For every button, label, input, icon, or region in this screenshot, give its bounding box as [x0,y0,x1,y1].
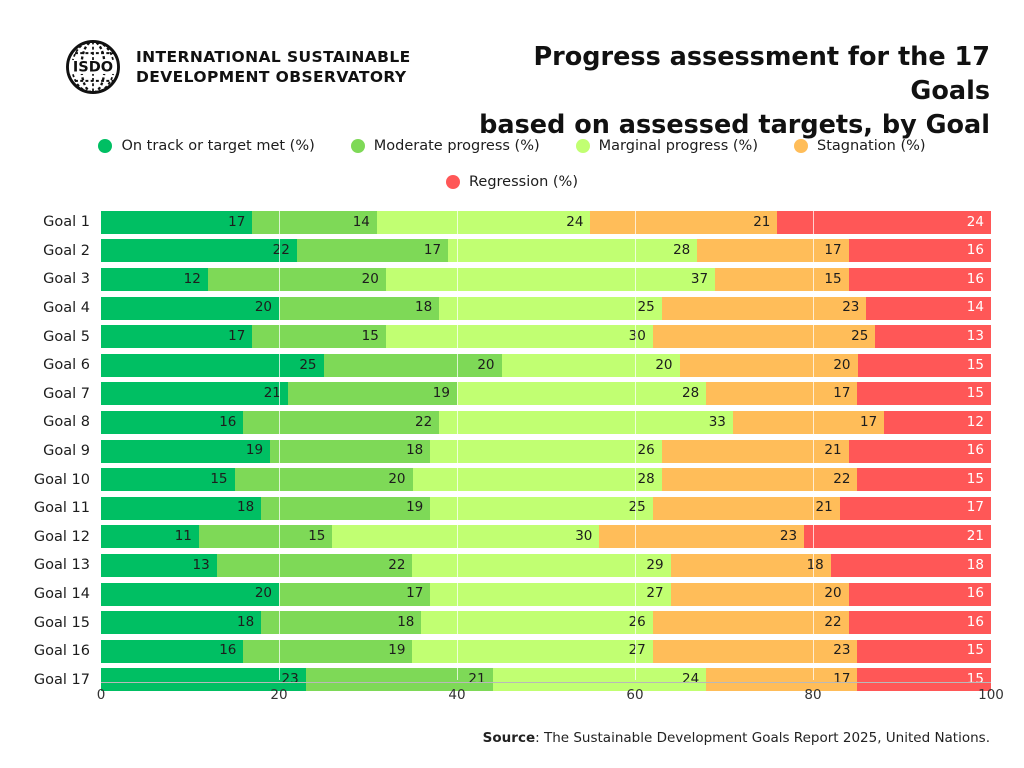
legend-item-label: Stagnation (%) [817,138,926,154]
bar-segment-value: 26 [637,444,661,458]
bar-segment[interactable]: 17 [297,239,448,262]
stacked-bar: 1520282215 [101,468,991,491]
bar-segment-value: 37 [691,273,715,287]
chart-plot-area: Goal 11714242124Goal 22217281716Goal 312… [0,208,1024,688]
stacked-bar: 1220371516 [101,268,991,291]
bar-segment[interactable]: 15 [857,382,991,405]
legend-item[interactable]: Regression (%) [446,174,578,190]
bar-segment[interactable]: 11 [101,525,199,548]
bar-segment-value: 17 [860,416,884,430]
bar-segment[interactable]: 28 [448,239,697,262]
bar-segment[interactable]: 23 [662,297,867,320]
bar-segment[interactable]: 20 [324,354,502,377]
bar-segment[interactable]: 16 [849,440,991,463]
legend-swatch-icon [576,139,590,153]
bar-segment[interactable]: 22 [217,554,413,577]
legend-swatch-icon [351,139,365,153]
bar-segment-value: 20 [388,473,412,487]
bar-row-label: Goal 8 [0,414,101,430]
bar-segment-value: 33 [709,416,733,430]
x-axis-tick-label: 60 [626,687,643,703]
bar-segment[interactable]: 29 [412,554,670,577]
bar-segment-value: 23 [833,644,857,658]
logo-text: ISDO [73,60,113,76]
bar-row: Goal 51715302513 [0,322,1024,351]
bar-segment[interactable]: 20 [101,297,279,320]
bar-segment-value: 30 [629,330,653,344]
bar-segment-value: 11 [175,530,199,544]
bar-segment-value: 25 [299,359,323,373]
bar-segment[interactable]: 12 [101,268,208,291]
bar-segment[interactable]: 14 [252,211,377,234]
stacked-bar: 2217281716 [101,239,991,262]
bar-segment-value: 17 [228,330,252,344]
bar-segment-value: 24 [967,216,991,230]
stacked-bar: 2017272016 [101,583,991,606]
bar-segment-value: 17 [824,244,848,258]
bar-segment-value: 23 [842,301,866,315]
legend-swatch-icon [794,139,808,153]
x-axis-tick-label: 100 [978,687,1004,703]
bar-segment-value: 16 [967,616,991,630]
stacked-bar: 1918262116 [101,440,991,463]
x-axis-tick-label: 80 [804,687,821,703]
bar-segment[interactable]: 19 [243,640,412,663]
bar-segment-value: 13 [967,330,991,344]
legend-item-label: On track or target met (%) [121,138,314,154]
bar-segment[interactable]: 20 [502,354,680,377]
bar-segment-value: 28 [638,473,662,487]
stacked-bar: 1714242124 [101,211,991,234]
bar-segment[interactable]: 15 [101,468,235,491]
bar-segment-value: 12 [967,416,991,430]
bar-segment[interactable]: 17 [733,411,884,434]
bar-row-label: Goal 10 [0,472,101,488]
legend-item[interactable]: On track or target met (%) [98,138,314,154]
bar-segment[interactable]: 25 [439,297,662,320]
source-text: : The Sustainable Development Goals Repo… [535,730,990,746]
bar-segment[interactable]: 20 [208,268,386,291]
bar-row: Goal 161619272315 [0,637,1024,666]
stacked-bar: 2119281715 [101,382,991,405]
bar-segment-value: 20 [824,587,848,601]
bar-segment-value: 21 [815,501,839,515]
bar-segment[interactable]: 25 [653,325,876,348]
bar-segment-value: 20 [362,273,386,287]
bar-segment[interactable]: 23 [653,640,858,663]
bar-row: Goal 11714242124 [0,208,1024,237]
bar-segment[interactable]: 25 [101,354,324,377]
bar-segment-value: 19 [433,387,457,401]
bar-segment[interactable]: 28 [457,382,706,405]
bar-segment-value: 21 [753,216,777,230]
bar-segment-value: 20 [255,587,279,601]
bar-row-label: Goal 7 [0,386,101,402]
page-header: ISDO INTERNATIONAL SUSTAINABLE DEVELOPME… [0,0,1024,120]
bar-segment[interactable]: 20 [101,583,279,606]
bar-segment[interactable]: 14 [866,297,991,320]
bar-segment-value: 15 [308,530,332,544]
bar-segment[interactable]: 21 [590,211,777,234]
legend-item[interactable]: Marginal progress (%) [576,138,758,154]
bar-segment[interactable]: 17 [840,497,991,520]
bar-segment-value: 18 [237,501,261,515]
bar-segment[interactable]: 18 [101,611,261,634]
stacked-bar: 1115302321 [101,525,991,548]
bar-segment-value: 16 [967,587,991,601]
bar-segment[interactable]: 19 [288,382,457,405]
stacked-bar: 1619272315 [101,640,991,663]
bar-segment[interactable]: 16 [849,268,991,291]
bar-segment-value: 15 [967,387,991,401]
bar-segment-value: 16 [967,273,991,287]
bar-segment[interactable]: 13 [875,325,991,348]
bar-segment-value: 15 [967,359,991,373]
bar-row: Goal 31220371516 [0,265,1024,294]
bar-segment[interactable]: 30 [386,325,653,348]
brand-line-1: INTERNATIONAL SUSTAINABLE [136,48,411,66]
bar-row-label: Goal 6 [0,357,101,373]
legend-item-label: Marginal progress (%) [599,138,758,154]
bar-row: Goal 72119281715 [0,380,1024,409]
bar-segment-value: 20 [255,301,279,315]
bar-segment[interactable]: 19 [261,497,430,520]
bar-row-label: Goal 12 [0,529,101,545]
bar-segment-value: 13 [193,559,217,573]
bar-segment-value: 24 [566,216,590,230]
bar-row-label: Goal 3 [0,271,101,287]
bar-segment-value: 21 [824,444,848,458]
globe-isdo-logo-icon: ISDO [64,38,122,96]
bar-row-label: Goal 14 [0,586,101,602]
bar-segment[interactable]: 18 [270,440,430,463]
bar-row-label: Goal 13 [0,557,101,573]
bar-row-label: Goal 15 [0,615,101,631]
bar-segment[interactable]: 21 [804,525,991,548]
bar-segment-value: 23 [780,530,804,544]
bar-segment[interactable]: 20 [680,354,858,377]
chart-legend: On track or target met (%)Moderate progr… [0,134,1024,194]
bar-row: Goal 142017272016 [0,580,1024,609]
bar-segment-value: 18 [807,559,831,573]
x-axis-line [101,682,991,683]
bar-segment[interactable]: 37 [386,268,715,291]
bar-segment[interactable]: 17 [706,382,857,405]
bar-row: Goal 151818262216 [0,608,1024,637]
bar-segment[interactable]: 25 [430,497,653,520]
bar-segment[interactable]: 18 [279,297,439,320]
bar-segment-value: 20 [655,359,679,373]
bar-segment-value: 25 [629,501,653,515]
bar-row: Goal 101520282215 [0,465,1024,494]
bar-segment[interactable]: 27 [412,640,652,663]
bar-segment-value: 21 [264,387,288,401]
bar-segment-value: 19 [406,501,430,515]
bar-segment-value: 29 [646,559,670,573]
bar-segment[interactable]: 30 [332,525,599,548]
bar-segment-value: 16 [967,444,991,458]
title-line-1: Progress assessment for the 17 Goals [533,42,990,106]
bar-segment-value: 15 [824,273,848,287]
bar-segment[interactable]: 23 [599,525,804,548]
x-axis: 020406080100 [101,682,991,712]
bar-segment-value: 27 [629,644,653,658]
stacked-bar: 1819252117 [101,497,991,520]
bar-segment-value: 14 [353,216,377,230]
bar-row: Goal 42018252314 [0,294,1024,323]
bar-row-label: Goal 1 [0,214,101,230]
bar-segment-value: 18 [406,444,430,458]
bar-segment[interactable]: 16 [849,611,991,634]
bar-segment-value: 28 [682,387,706,401]
bar-segment-value: 17 [406,587,430,601]
bar-segment[interactable]: 22 [662,468,858,491]
brand-name: INTERNATIONAL SUSTAINABLE DEVELOPMENT OB… [136,47,411,88]
bar-segment-value: 16 [219,644,243,658]
bar-segment-value: 22 [833,473,857,487]
bar-segment-value: 28 [673,244,697,258]
bar-segment[interactable]: 24 [777,211,991,234]
bar-row: Goal 81622331712 [0,408,1024,437]
bar-segment[interactable]: 17 [697,239,848,262]
bar-segment-value: 17 [228,216,252,230]
bar-segment-value: 18 [397,616,421,630]
bar-segment-value: 25 [638,301,662,315]
brand-logo-block: ISDO INTERNATIONAL SUSTAINABLE DEVELOPME… [64,38,411,96]
bar-segment-value: 22 [388,559,412,573]
bar-segment[interactable]: 18 [671,554,831,577]
bar-row: Goal 121115302321 [0,523,1024,552]
bar-segment[interactable]: 17 [101,211,252,234]
bar-segment-value: 18 [967,559,991,573]
bar-segment-value: 16 [967,244,991,258]
bar-row: Goal 62520202015 [0,351,1024,380]
bar-segment-value: 26 [629,616,653,630]
stacked-bar: 1322291818 [101,554,991,577]
bar-segment[interactable]: 16 [849,583,991,606]
stacked-bar: 1622331712 [101,411,991,434]
bar-segment-value: 21 [967,530,991,544]
bar-segment[interactable]: 18 [261,611,421,634]
legend-item[interactable]: Moderate progress (%) [351,138,540,154]
bar-segment[interactable]: 18 [831,554,991,577]
bar-segment-value: 15 [210,473,234,487]
bar-segment[interactable]: 22 [243,411,439,434]
bar-segment[interactable]: 18 [101,497,261,520]
bar-segment[interactable]: 16 [101,411,243,434]
stacked-bar: 2018252314 [101,297,991,320]
page-title: Progress assessment for the 17 Goals bas… [470,40,990,142]
bar-segment-value: 17 [967,501,991,515]
bar-row: Goal 111819252117 [0,494,1024,523]
bar-segment-value: 19 [388,644,412,658]
bar-segment[interactable]: 28 [413,468,662,491]
bar-segment[interactable]: 15 [199,525,333,548]
source-label: Source [483,730,535,746]
source-note: Source: The Sustainable Development Goal… [483,730,990,746]
bar-segment-value: 17 [833,387,857,401]
bar-segment[interactable]: 15 [857,468,991,491]
stacked-bar: 1818262216 [101,611,991,634]
bar-segment[interactable]: 33 [439,411,733,434]
bar-segment[interactable]: 22 [101,239,297,262]
x-axis-tick-label: 40 [448,687,465,703]
bar-row: Goal 131322291818 [0,551,1024,580]
bar-row: Goal 22217281716 [0,237,1024,266]
legend-row-primary: On track or target met (%)Moderate progr… [0,134,1024,158]
bar-segment[interactable]: 15 [858,354,992,377]
bar-segment-value: 22 [273,244,297,258]
bar-row-label: Goal 2 [0,243,101,259]
stacked-bar: 1715302513 [101,325,991,348]
bar-row-label: Goal 16 [0,643,101,659]
bar-segment-value: 15 [967,644,991,658]
bar-segment[interactable]: 20 [671,583,849,606]
bar-segment-value: 19 [246,444,270,458]
bar-segment-value: 30 [575,530,599,544]
bar-segment[interactable]: 12 [884,411,991,434]
bar-segment-value: 27 [646,587,670,601]
legend-item-label: Moderate progress (%) [374,138,540,154]
bar-row-label: Goal 17 [0,672,101,688]
legend-swatch-icon [446,175,460,189]
bar-segment[interactable]: 16 [849,239,991,262]
bar-segment[interactable]: 13 [101,554,217,577]
legend-row-secondary: Regression (%) [0,170,1024,194]
bar-segment-value: 22 [415,416,439,430]
chart-page: ISDO INTERNATIONAL SUSTAINABLE DEVELOPME… [0,0,1024,768]
bar-segment-value: 18 [415,301,439,315]
bar-segment[interactable]: 26 [421,611,652,634]
brand-line-2: DEVELOPMENT OBSERVATORY [136,67,411,87]
bar-segment-value: 12 [184,273,208,287]
bar-segment[interactable]: 20 [235,468,413,491]
bar-segment[interactable]: 21 [101,382,288,405]
bar-row: Goal 91918262116 [0,437,1024,466]
bar-segment[interactable]: 16 [101,640,243,663]
bar-row-label: Goal 4 [0,300,101,316]
bar-segment-value: 20 [477,359,501,373]
bar-segment[interactable]: 22 [653,611,849,634]
bar-segment[interactable]: 21 [662,440,849,463]
bar-row-label: Goal 9 [0,443,101,459]
bar-segment[interactable]: 17 [101,325,252,348]
bar-row-label: Goal 5 [0,329,101,345]
bar-segment[interactable]: 19 [101,440,270,463]
bar-segment-value: 15 [362,330,386,344]
bar-segment[interactable]: 17 [279,583,430,606]
x-axis-tick-label: 0 [97,687,106,703]
bar-segment[interactable]: 15 [857,640,991,663]
bar-segment-value: 18 [237,616,261,630]
bar-row-label: Goal 11 [0,500,101,516]
x-axis-tick-label: 20 [270,687,287,703]
bar-segment-value: 16 [219,416,243,430]
stacked-bar: 2520202015 [101,354,991,377]
bar-segment[interactable]: 21 [653,497,840,520]
bar-rows: Goal 11714242124Goal 22217281716Goal 312… [0,208,1024,694]
legend-swatch-icon [98,139,112,153]
legend-item[interactable]: Stagnation (%) [794,138,926,154]
bar-segment-value: 15 [967,473,991,487]
bar-segment-value: 17 [424,244,448,258]
legend-item-label: Regression (%) [469,174,578,190]
bar-segment[interactable]: 26 [430,440,661,463]
bar-segment[interactable]: 15 [715,268,849,291]
bar-segment[interactable]: 24 [377,211,591,234]
bar-segment[interactable]: 15 [252,325,386,348]
bar-segment[interactable]: 27 [430,583,670,606]
bar-segment-value: 22 [824,616,848,630]
bar-segment-value: 14 [967,301,991,315]
bar-segment-value: 25 [851,330,875,344]
bar-segment-value: 20 [833,359,857,373]
